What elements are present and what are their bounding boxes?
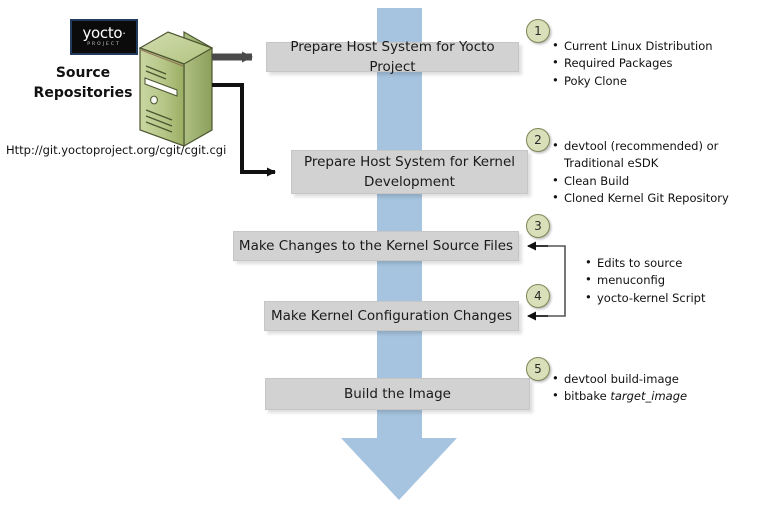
yocto-project-logo: yocto· PROJECT: [70, 19, 138, 55]
source-label-line2: Repositories: [24, 83, 142, 103]
list-item: Edits to source: [585, 255, 706, 272]
process-box-step-2-line2: Development: [364, 174, 455, 190]
list-item: devtool (recommended) or Traditional eSD…: [552, 138, 729, 173]
yocto-logo-subtext: PROJECT: [87, 43, 120, 48]
list-item: Current Linux Distribution: [552, 38, 713, 55]
process-box-step-3[interactable]: Make Changes to the Kernel Source Files: [233, 231, 519, 261]
flow-arrow-head: [341, 438, 457, 500]
step-number-3: 3: [526, 214, 550, 238]
process-box-step-2-line1: Prepare Host System for Kernel: [304, 154, 515, 170]
bitbake-target-image-variable: target_image: [610, 389, 687, 403]
process-box-step-1-label: Prepare Host System for Yocto Project: [267, 37, 518, 78]
step-number-5: 5: [526, 357, 550, 381]
list-item: Required Packages: [552, 55, 713, 72]
bullet-list-step-2: devtool (recommended) or Traditional eSD…: [552, 138, 729, 208]
process-box-step-5-label: Build the Image: [344, 384, 451, 404]
list-item: menuconfig: [585, 272, 706, 289]
source-repositories-label: Source Repositories: [24, 63, 142, 104]
list-item: Cloned Kernel Git Repository: [552, 190, 729, 207]
list-item-line2: Traditional eSDK: [564, 155, 729, 172]
process-box-step-1[interactable]: Prepare Host System for Yocto Project: [266, 42, 519, 72]
yocto-logo-dot: ·: [122, 27, 125, 40]
diagram-canvas: yocto· PROJECT Source Repositories Http:…: [0, 0, 769, 517]
list-item: Poky Clone: [552, 73, 713, 90]
bullet-list-steps-3-4: Edits to source menuconfig yocto-kernel …: [585, 255, 706, 307]
yocto-logo-text: yocto: [82, 24, 122, 42]
process-box-step-2[interactable]: Prepare Host System for Kernel Developme…: [291, 150, 528, 194]
step-number-1: 1: [526, 19, 550, 43]
step-number-2: 2: [526, 128, 550, 152]
yocto-logo-wordmark: yocto·: [82, 26, 125, 41]
process-box-step-4[interactable]: Make Kernel Configuration Changes: [264, 301, 519, 331]
list-item: bitbake target_image: [552, 388, 687, 405]
process-box-step-5[interactable]: Build the Image: [265, 378, 530, 410]
source-label-line1: Source: [24, 63, 142, 83]
bullet-list-step-5: devtool build-image bitbake target_image: [552, 371, 687, 406]
process-box-step-4-label: Make Kernel Configuration Changes: [271, 306, 512, 326]
list-item-line1: devtool (recommended) or: [564, 139, 718, 153]
process-box-step-3-label: Make Changes to the Kernel Source Files: [239, 236, 513, 256]
step-number-4: 4: [526, 284, 550, 308]
server-icon: [132, 26, 216, 158]
bitbake-command-prefix: bitbake: [564, 389, 610, 403]
process-box-step-2-label: Prepare Host System for Kernel Developme…: [304, 152, 515, 193]
bullet-list-step-1: Current Linux Distribution Required Pack…: [552, 38, 713, 90]
list-item: Clean Build: [552, 173, 729, 190]
list-item: yocto-kernel Script: [585, 290, 706, 307]
list-item: devtool build-image: [552, 371, 687, 388]
